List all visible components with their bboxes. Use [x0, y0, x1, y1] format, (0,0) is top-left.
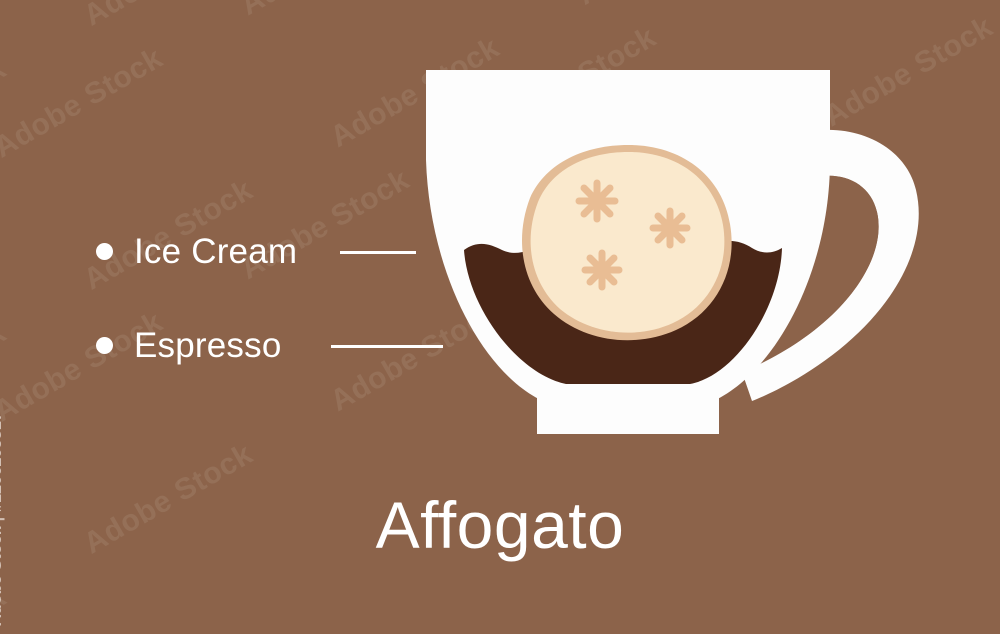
stock-id-watermark: Adobe Stock | #1206205317 [0, 412, 6, 626]
legend-item-espresso[interactable]: Espresso [96, 316, 466, 374]
legend-leader-line-ice-cream [340, 251, 416, 254]
legend-bullet-icon [96, 337, 113, 354]
legend-label-ice-cream: Ice Cream [134, 234, 297, 269]
product-title: Affogato [0, 487, 1000, 563]
legend-leader-line-espresso [331, 345, 443, 348]
legend-label-espresso: Espresso [134, 328, 282, 363]
legend-bullet-icon [96, 243, 113, 260]
legend-item-ice-cream[interactable]: Ice Cream [96, 222, 466, 280]
illustration-canvas: Adobe StockAdobe StockAdobe StockAdobe S… [0, 0, 1000, 634]
ingredient-legend: Ice Cream Espresso [96, 222, 466, 374]
